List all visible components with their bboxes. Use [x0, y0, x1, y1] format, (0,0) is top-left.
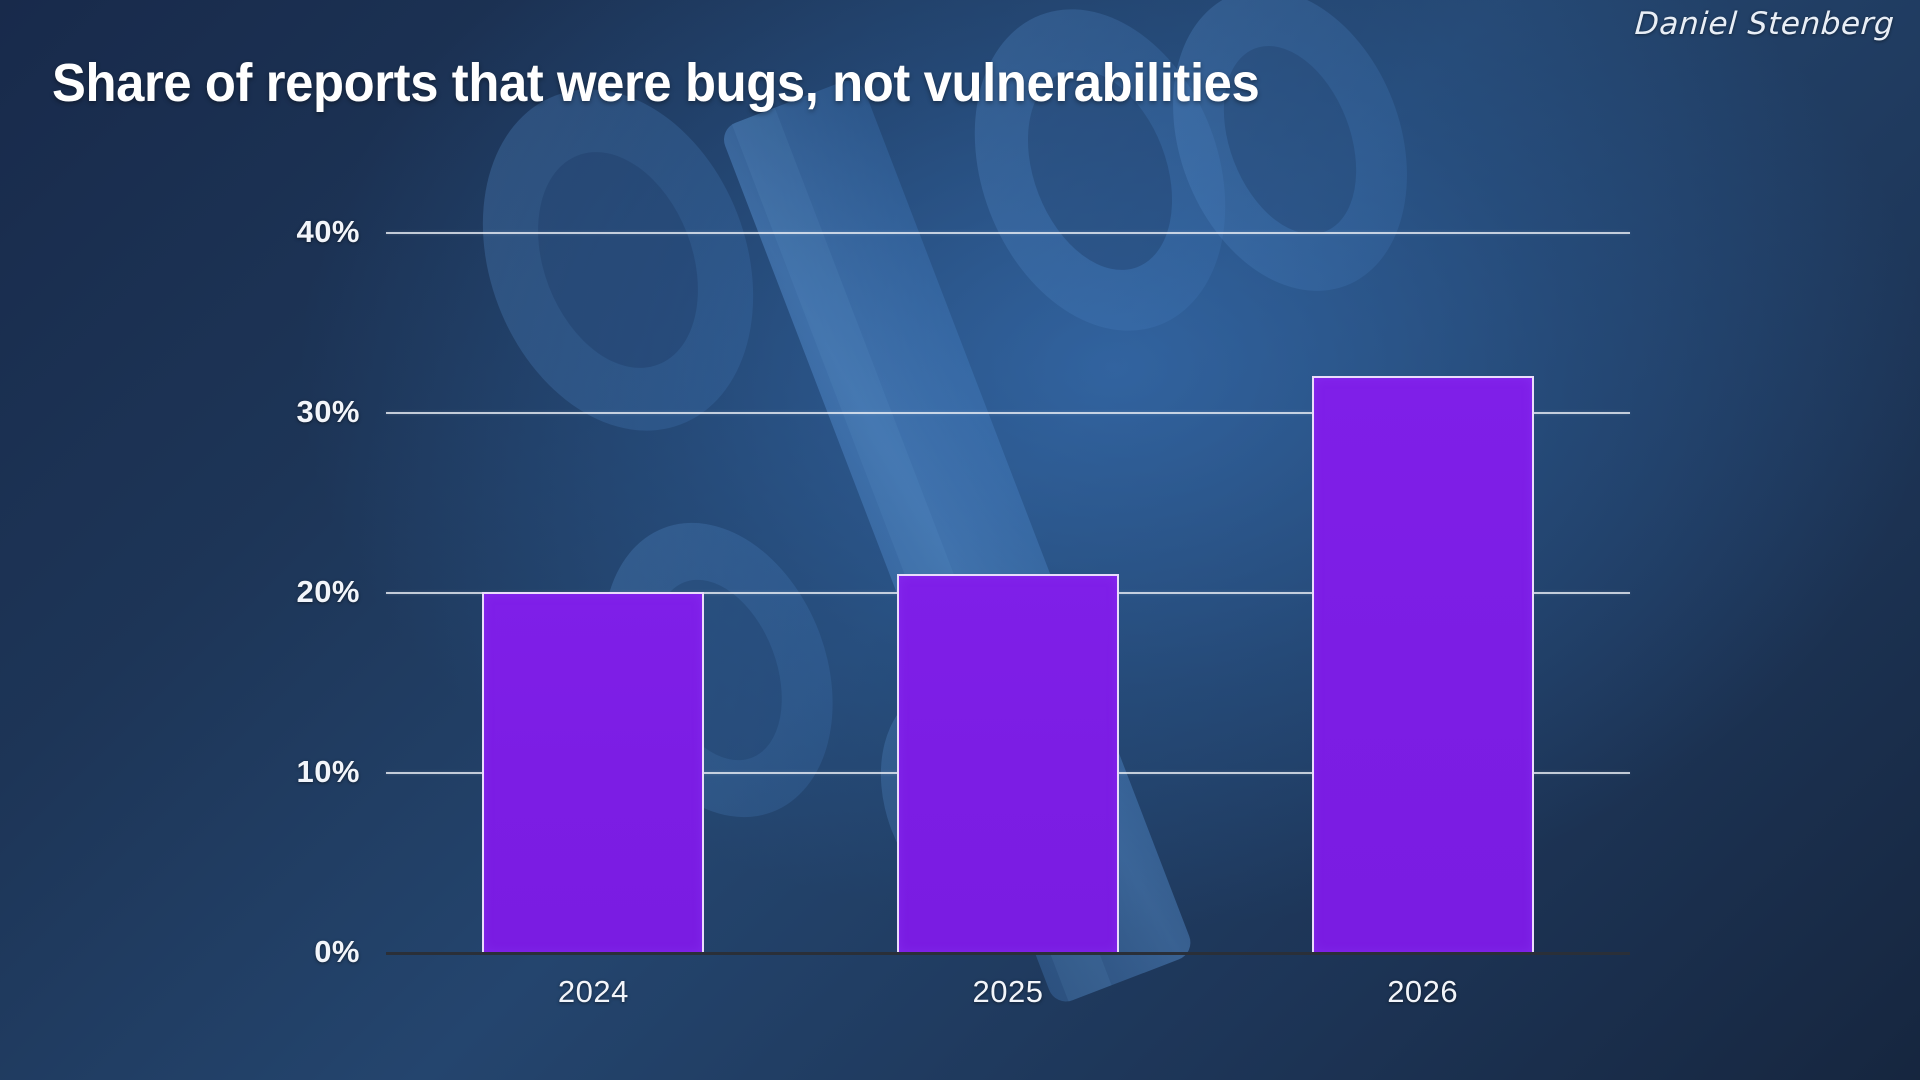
x-axis-line	[386, 952, 1630, 955]
x-axis-label-2025: 2025	[973, 974, 1044, 1010]
bar-2026[interactable]	[1312, 376, 1534, 952]
y-axis-tick-label: 10%	[296, 754, 360, 790]
bar-2024[interactable]	[482, 592, 704, 952]
author-signature: Daniel Stenberg	[1633, 6, 1895, 42]
y-axis-tick-label: 0%	[314, 934, 360, 970]
bar-2025[interactable]	[897, 574, 1119, 952]
bar-group-2025: 2025	[801, 232, 1216, 952]
y-axis-tick-label: 40%	[296, 214, 360, 250]
x-axis-label-2026: 2026	[1387, 974, 1458, 1010]
chart-title: Share of reports that were bugs, not vul…	[52, 52, 1259, 114]
bar-group-2024: 2024	[386, 232, 801, 952]
bar-series: 202420252026	[386, 232, 1630, 952]
chart-plot-area: 0%10%20%30%40% 202420252026	[386, 232, 1630, 952]
y-axis-tick-label: 30%	[296, 394, 360, 430]
y-axis-tick-label: 20%	[296, 574, 360, 610]
bar-group-2026: 2026	[1215, 232, 1630, 952]
x-axis-label-2024: 2024	[558, 974, 629, 1010]
